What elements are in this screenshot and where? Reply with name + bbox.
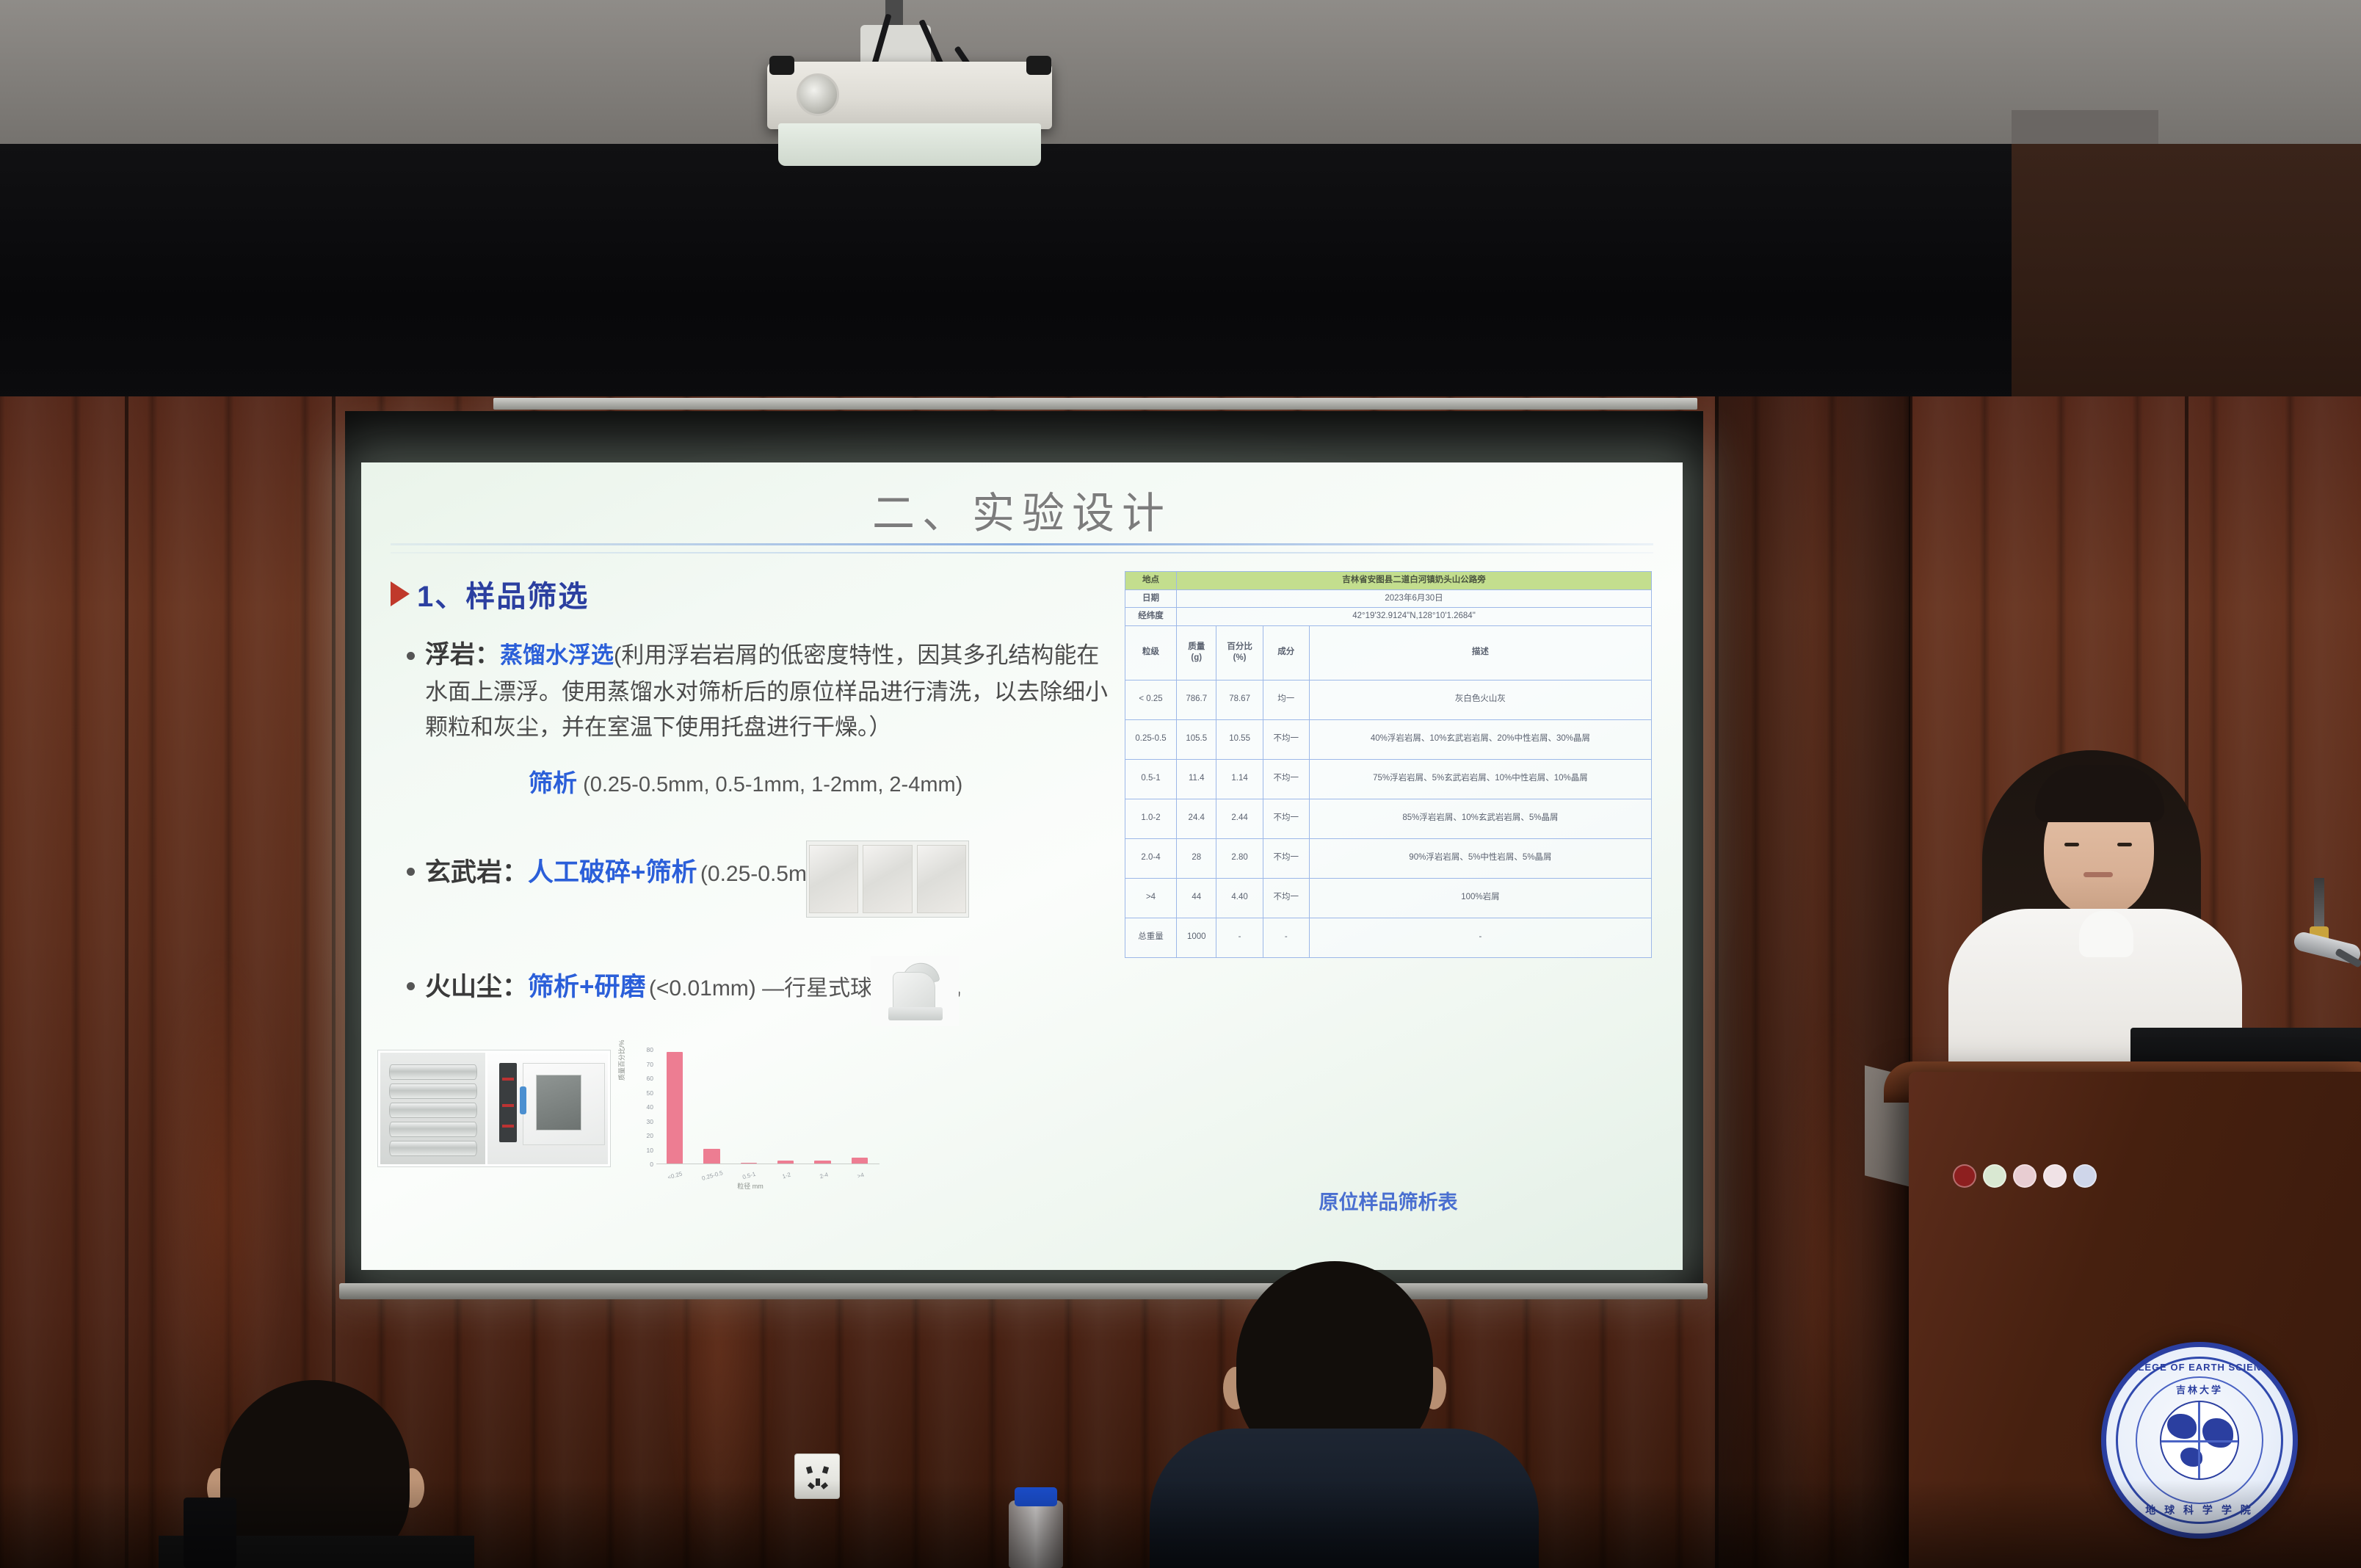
cell-mass: 28 bbox=[1177, 838, 1216, 878]
table-header-row: 粒级质量(g)百分比(%)成分描述 bbox=[1125, 625, 1652, 680]
table-row: 0.5-111.41.14不均一75%浮岩岩屑、5%玄武岩岩屑、10%中性岩屑、… bbox=[1125, 759, 1652, 799]
projector-foot bbox=[1026, 56, 1051, 75]
ceiling-soffit bbox=[0, 144, 2012, 408]
presenter-eye bbox=[2117, 843, 2132, 846]
cell-description: - bbox=[1309, 918, 1651, 957]
chart-bar-column bbox=[804, 1050, 841, 1164]
presenter-eye bbox=[2064, 843, 2079, 846]
emblem-center-text: 吉林大学 bbox=[2106, 1382, 2293, 1396]
cell-percent: - bbox=[1216, 918, 1263, 957]
bullet-volcanic-dust: 火山尘：筛析+研磨 (<0.01mm) —行星式球型研磨机 bbox=[407, 966, 1067, 1003]
chart-y-tick: 60 bbox=[647, 1075, 653, 1082]
table-caption: 原位样品筛析表 bbox=[1125, 1186, 1652, 1215]
table-column-header: 质量(g) bbox=[1177, 625, 1216, 680]
bullet-pumice-highlight: 蒸馏水浮选 bbox=[500, 642, 614, 668]
cell-grade: 0.5-1 bbox=[1125, 759, 1177, 799]
podium-badge bbox=[2043, 1164, 2067, 1188]
chart-x-axis bbox=[656, 1164, 880, 1165]
table-column-header: 描述 bbox=[1309, 625, 1651, 680]
projector-lower-housing bbox=[778, 123, 1041, 166]
chart-plot-area: 01020304050607080 bbox=[656, 1050, 878, 1164]
wall-pillar bbox=[1715, 396, 1910, 1568]
table-meta-row: 日期2023年6月30日 bbox=[1125, 589, 1652, 608]
presenter-fringe bbox=[2035, 765, 2164, 822]
floor-shadow bbox=[0, 1480, 2361, 1568]
table-row: 0.25-0.5105.510.55不均一40%浮岩岩屑、10%玄武岩岩屑、20… bbox=[1125, 719, 1652, 759]
cell-uniformity: 均一 bbox=[1263, 680, 1309, 719]
table-meta-label: 经纬度 bbox=[1125, 608, 1177, 626]
cell-uniformity: - bbox=[1263, 918, 1309, 957]
table-meta-value: 42°19'32.9124"N,128°10'1.2684" bbox=[1177, 608, 1652, 626]
sieve-ranges: (0.25-0.5mm, 0.5-1mm, 1-2mm, 2-4mm) bbox=[583, 773, 962, 796]
chart-bar-column bbox=[767, 1050, 804, 1164]
presenter-collar bbox=[2079, 910, 2133, 957]
table-row: 总重量1000--- bbox=[1125, 918, 1652, 957]
bullet-basalt-lead: 玄武岩： bbox=[425, 858, 528, 887]
cell-grade: 1.0-2 bbox=[1125, 799, 1177, 838]
chart-bar-column bbox=[656, 1050, 693, 1164]
cell-description: 85%浮岩岩屑、10%玄武岩岩屑、5%晶屑 bbox=[1309, 799, 1651, 838]
cell-grade: < 0.25 bbox=[1125, 680, 1177, 719]
table-row: 2.0-4282.80不均一90%浮岩岩屑、5%中性岩屑、5%晶屑 bbox=[1125, 838, 1652, 878]
upper-right-wood bbox=[2012, 144, 2361, 415]
podium-badge bbox=[2073, 1164, 2097, 1188]
title-divider bbox=[391, 543, 1653, 545]
bullet-basalt-highlight: 人工破碎+筛析 bbox=[528, 858, 697, 887]
sieve-label: 筛析 bbox=[529, 769, 577, 796]
cell-percent: 2.44 bbox=[1216, 799, 1263, 838]
podium-badge bbox=[2013, 1164, 2037, 1188]
cell-percent: 2.80 bbox=[1216, 838, 1263, 878]
table-meta-row: 地点吉林省安图县二道白河镇奶头山公路旁 bbox=[1125, 572, 1652, 590]
cell-description: 75%浮岩岩屑、5%玄武岩岩屑、10%中性岩屑、10%晶屑 bbox=[1309, 759, 1651, 799]
projector-lens-icon bbox=[797, 73, 839, 116]
sieve-analysis-table: 地点吉林省安图县二道白河镇奶头山公路旁日期2023年6月30日经纬度42°19'… bbox=[1125, 571, 1652, 958]
projection-screen: 二、实验设计 1、样品筛选 浮岩：蒸馏水浮选(利用浮岩岩屑的低密度特性，因其多孔… bbox=[361, 462, 1683, 1270]
chart-y-tick: 10 bbox=[647, 1147, 653, 1154]
bullet-dust-highlight: 筛析+研磨 bbox=[528, 973, 645, 1001]
screenshot-root: 二、实验设计 1、样品筛选 浮岩：蒸馏水浮选(利用浮岩岩屑的低密度特性，因其多孔… bbox=[0, 0, 2361, 1568]
cell-percent: 10.55 bbox=[1216, 719, 1263, 759]
chart-bar-column bbox=[693, 1050, 730, 1164]
section-heading-label: 1、样品筛选 bbox=[417, 573, 589, 615]
table-meta-value: 2023年6月30日 bbox=[1177, 589, 1652, 608]
cell-mass: 44 bbox=[1177, 878, 1216, 918]
cell-percent: 78.67 bbox=[1216, 680, 1263, 719]
chart-y-tick: 80 bbox=[647, 1046, 653, 1053]
table-row: >4444.40不均一100%岩屑 bbox=[1125, 878, 1652, 918]
lab-equipment-photo bbox=[377, 1050, 611, 1167]
presentation-slide: 二、实验设计 1、样品筛选 浮岩：蒸馏水浮选(利用浮岩岩屑的低密度特性，因其多孔… bbox=[361, 462, 1683, 1270]
cell-description: 100%岩屑 bbox=[1309, 878, 1651, 918]
ball-mill-photo bbox=[871, 956, 959, 1026]
podium-badge bbox=[1983, 1164, 2006, 1188]
table-meta-value: 吉林省安图县二道白河镇奶头山公路旁 bbox=[1177, 572, 1652, 590]
table-column-header: 百分比(%) bbox=[1216, 625, 1263, 680]
chart-x-tick-labels: <0.250.25-0.50.5-11-22-4>4 bbox=[656, 1172, 880, 1179]
chart-y-tick: 40 bbox=[647, 1103, 653, 1111]
cell-mass: 11.4 bbox=[1177, 759, 1216, 799]
wall-seam bbox=[125, 396, 128, 1568]
table-column-header: 成分 bbox=[1263, 625, 1309, 680]
chart-y-tick: 0 bbox=[650, 1161, 653, 1168]
chart-y-tick: 50 bbox=[647, 1089, 653, 1097]
table-row: < 0.25786.778.67均一灰白色火山灰 bbox=[1125, 680, 1652, 719]
screen-roller-rail bbox=[493, 398, 1697, 410]
cell-percent: 1.14 bbox=[1216, 759, 1263, 799]
section-heading: 1、样品筛选 bbox=[391, 573, 589, 615]
cell-uniformity: 不均一 bbox=[1263, 719, 1309, 759]
cell-grade: 2.0-4 bbox=[1125, 838, 1177, 878]
chart-y-axis-label: 质量百分比/% bbox=[617, 1039, 626, 1081]
sieve-ranges-line: 筛析 (0.25-0.5mm, 0.5-1mm, 1-2mm, 2-4mm) bbox=[529, 763, 962, 799]
projector-arm bbox=[860, 25, 931, 66]
cell-mass: 24.4 bbox=[1177, 799, 1216, 838]
screen-bottom-weight-bar bbox=[339, 1283, 1708, 1299]
table-meta-row: 经纬度42°19'32.9124"N,128°10'1.2684" bbox=[1125, 608, 1652, 626]
hanging-microphone-cable bbox=[2314, 878, 2324, 932]
podium-badge-row bbox=[1953, 1164, 2097, 1188]
table-meta-label: 地点 bbox=[1125, 572, 1177, 590]
projector-foot bbox=[769, 56, 794, 75]
table-column-header: 粒级 bbox=[1125, 625, 1177, 680]
bullet-dot-icon bbox=[407, 652, 415, 660]
particle-size-bar-chart: 质量百分比/% 01020304050607080 <0.250.25-0.50… bbox=[618, 1042, 882, 1189]
chart-y-tick: 20 bbox=[647, 1132, 653, 1139]
cell-description: 90%浮岩岩屑、5%中性岩屑、5%晶屑 bbox=[1309, 838, 1651, 878]
cell-mass: 105.5 bbox=[1177, 719, 1216, 759]
presenter-mouth bbox=[2083, 872, 2113, 877]
bullet-dot-icon bbox=[407, 868, 415, 876]
slide-title: 二、实验设计 bbox=[361, 479, 1683, 540]
cell-description: 灰白色火山灰 bbox=[1309, 680, 1651, 719]
table-meta-label: 日期 bbox=[1125, 589, 1177, 608]
podium-badge bbox=[1953, 1164, 1976, 1188]
table-row: 1.0-224.42.44不均一85%浮岩岩屑、10%玄武岩岩屑、5%晶屑 bbox=[1125, 799, 1652, 838]
cell-mass: 786.7 bbox=[1177, 680, 1216, 719]
bullet-dust-lead: 火山尘： bbox=[425, 973, 528, 1001]
cell-uniformity: 不均一 bbox=[1263, 838, 1309, 878]
chart-bar-column bbox=[841, 1050, 878, 1164]
globe-icon bbox=[2160, 1401, 2239, 1480]
cell-percent: 4.40 bbox=[1216, 878, 1263, 918]
chart-y-tick: 70 bbox=[647, 1061, 653, 1068]
emblem-top-text: COLLEGE OF EARTH SCIENCES bbox=[2106, 1362, 2293, 1373]
bullet-pumice: 浮岩：蒸馏水浮选(利用浮岩岩屑的低密度特性，因其多孔结构能在水面上漂浮。使用蒸馏… bbox=[407, 636, 1111, 745]
cell-uniformity: 不均一 bbox=[1263, 878, 1309, 918]
chart-bar-column bbox=[730, 1050, 767, 1164]
cell-grade: >4 bbox=[1125, 878, 1177, 918]
cell-mass: 1000 bbox=[1177, 918, 1216, 957]
cell-uniformity: 不均一 bbox=[1263, 759, 1309, 799]
bullet-dot-icon bbox=[407, 982, 415, 990]
cell-grade: 0.25-0.5 bbox=[1125, 719, 1177, 759]
chart-bar bbox=[667, 1052, 683, 1164]
drying-oven-photo bbox=[487, 1053, 608, 1164]
cell-description: 40%浮岩岩屑、10%玄武岩岩屑、20%中性岩屑、30%晶屑 bbox=[1309, 719, 1651, 759]
chart-bar bbox=[703, 1149, 719, 1164]
triangle-marker-icon bbox=[391, 581, 410, 606]
chart-y-tick: 30 bbox=[647, 1118, 653, 1125]
bullet-pumice-lead: 浮岩： bbox=[425, 641, 500, 669]
title-divider-secondary bbox=[391, 552, 1653, 553]
cell-uniformity: 不均一 bbox=[1263, 799, 1309, 838]
chart-bars bbox=[656, 1050, 878, 1164]
cell-grade: 总重量 bbox=[1125, 918, 1177, 957]
sample-bags-photo bbox=[806, 841, 969, 918]
chart-x-axis-label: 粒径 mm bbox=[618, 1181, 882, 1191]
sieve-stack-photo bbox=[380, 1053, 485, 1164]
